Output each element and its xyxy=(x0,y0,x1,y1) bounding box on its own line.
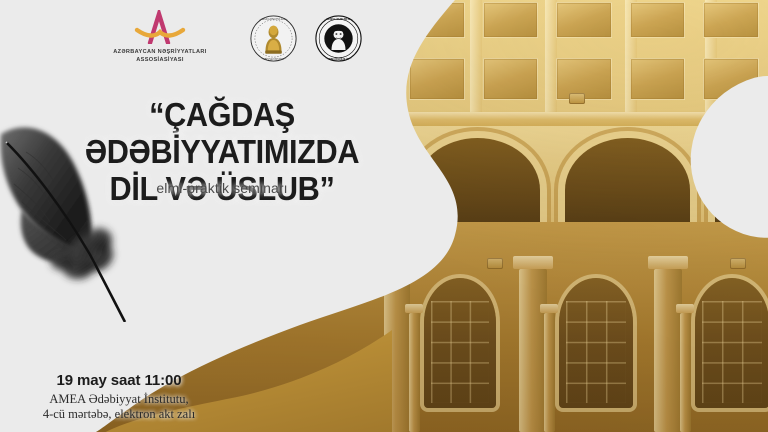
column-capital xyxy=(378,256,416,269)
svg-text:NİZAMİ GƏNCƏVİ ADINA: NİZAMİ GƏNCƏVİ ADINA xyxy=(258,18,289,21)
svg-text:ƏDƏBİYYAT İNSTİTUTU: ƏDƏBİYYAT İNSTİTUTU xyxy=(259,58,288,61)
logo-row: AZƏRBAYCAN NƏŞRİYYATLARI ASSOSİASİYASI N… xyxy=(64,8,324,76)
azerbaijan-publishers-association-logo: AZƏRBAYCAN NƏŞRİYYATLARI ASSOSİASİYASI xyxy=(96,10,224,64)
association-name: AZƏRBAYCAN NƏŞRİYYATLARI ASSOSİASİYASI xyxy=(96,49,224,64)
association-name-line1: AZƏRBAYCAN NƏŞRİYYATLARI xyxy=(96,49,224,57)
poster-canvas: ELMLƏR AKADEMİYASI xyxy=(0,0,768,432)
event-venue: AMEA Ədəbiyyat İnstitutu, 4-cü mərtəbə, … xyxy=(14,392,224,422)
page-subtitle: elmi-praktik seminarı xyxy=(18,180,426,196)
association-name-line2: ASSOSİASİYASI xyxy=(96,57,224,65)
association-mark-icon xyxy=(133,10,187,44)
svg-text:NƏSİMİ ADINA DİLÇİLİK İNSTİTUT: NƏSİMİ ADINA DİLÇİLİK İNSTİTUTU xyxy=(318,58,359,61)
event-venue-line1: AMEA Ədəbiyyat İnstitutu, xyxy=(14,392,224,407)
event-datetime: 19 may saat 11:00 xyxy=(14,372,224,389)
event-details: 19 may saat 11:00 AMEA Ədəbiyyat İnstitu… xyxy=(14,372,224,422)
page-title-line1: “ÇAĞDAŞ ƏDƏBİYYATIMIZDA xyxy=(85,96,359,170)
event-venue-line2: 4-cü mərtəbə, elektron akt zalı xyxy=(14,407,224,422)
nizami-ganjavi-institute-seal: NİZAMİ GƏNCƏVİ ADINA ƏDƏBİYYAT İNSTİTUTU xyxy=(250,15,297,62)
svg-text:AZƏRBAYCAN MİLLİ ELMLƏR AKADEM: AZƏRBAYCAN MİLLİ ELMLƏR AKADEMİYASI xyxy=(315,18,362,21)
national-academy-seal: AZƏRBAYCAN MİLLİ ELMLƏR AKADEMİYASI NƏSİ… xyxy=(315,15,362,62)
